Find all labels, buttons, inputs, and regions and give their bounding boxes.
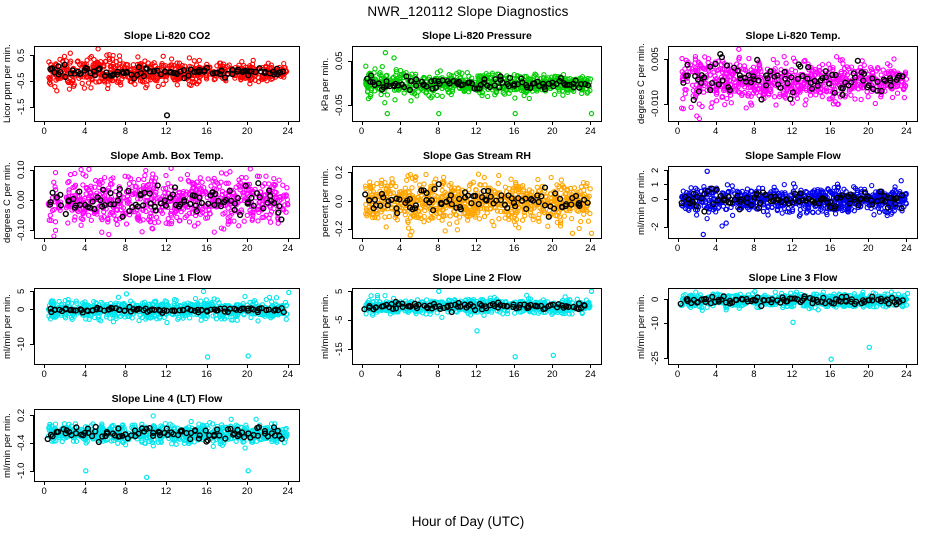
y-axis-line-slope-line-2-flow [351,291,352,349]
x-tick-label-slope-gas-stream-rh: 20 [540,243,564,254]
data-points-slope-line-3-flow [669,289,917,364]
x-tick-label-slope-line-3-flow: 16 [818,369,842,380]
plot-area-slope-li820-temp [668,46,918,122]
x-axis-line-slope-li820-temp [678,121,907,122]
y-axis-label-slope-li820-temp: degrees C per min. [636,44,647,124]
x-tick-label-slope-li820-co2: 0 [32,126,56,137]
y-axis-label-slope-amb-box-temp: degrees C per min. [2,164,13,241]
x-tick-slope-line-3-flow [906,364,907,368]
y-tick-label-slope-li820-pressure: -0.05 [334,89,346,121]
y-axis-line-slope-line-1-flow [33,291,34,343]
x-tick-slope-gas-stream-rh [590,238,591,242]
x-tick-label-slope-amb-box-temp: 12 [154,243,178,254]
x-axis-line-slope-li820-co2 [44,121,288,122]
plot-area-slope-gas-stream-rh [352,166,602,239]
panel-title-slope-li820-pressure: Slope Li-820 Pressure [352,30,602,42]
x-tick-label-slope-line-4-lt-flow: 12 [154,486,178,497]
y-tick-label-slope-line-2-flow: -15 [334,333,346,365]
y-tick-label-slope-line-2-flow: -5 [334,304,346,336]
x-tick-label-slope-li820-temp: 0 [666,126,690,137]
y-tick-label-slope-line-2-flow: 5 [334,275,346,307]
data-points-slope-amb-box-temp [35,167,299,238]
panel-title-slope-sample-flow: Slope Sample Flow [668,150,918,162]
x-tick-label-slope-sample-flow: 12 [780,243,804,254]
y-tick-label-slope-line-3-flow: -10 [650,307,662,339]
plot-area-slope-line-3-flow [668,288,918,365]
y-axis-label-slope-line-3-flow: ml/min per min. [636,286,647,367]
y-tick-slope-line-1-flow [30,344,34,345]
y-axis-label-slope-line-1-flow: ml/min per min. [2,286,13,367]
data-points-slope-li820-temp [669,47,917,121]
x-tick-label-slope-line-3-flow: 20 [856,369,880,380]
x-tick-label-slope-sample-flow: 24 [894,243,918,254]
y-axis-line-slope-li820-co2 [33,55,34,107]
x-tick-label-slope-line-1-flow: 12 [154,369,178,380]
x-tick-label-slope-li820-temp: 12 [780,126,804,137]
panel-title-slope-line-1-flow: Slope Line 1 Flow [34,272,300,284]
x-tick-label-slope-line-1-flow: 16 [195,369,219,380]
panel-title-slope-line-4-lt-flow: Slope Line 4 (LT) Flow [34,393,300,405]
y-axis-line-slope-li820-pressure [351,61,352,105]
data-points-slope-sample-flow [669,167,917,238]
global-x-axis-label: Hour of Day (UTC) [0,514,936,529]
plot-area-slope-line-1-flow [34,288,300,365]
y-tick-label-slope-amb-box-temp: -0.10 [16,214,28,246]
panel-title-slope-gas-stream-rh: Slope Gas Stream RH [352,150,602,162]
x-tick-label-slope-amb-box-temp: 16 [195,243,219,254]
x-tick-slope-amb-box-temp [288,238,289,242]
x-axis-line-slope-line-4-lt-flow [44,481,288,482]
x-tick-label-slope-line-4-lt-flow: 0 [32,486,56,497]
panel-title-slope-li820-temp: Slope Li-820 Temp. [668,30,918,42]
y-tick-label-slope-line-3-flow: -25 [650,342,662,374]
data-points-slope-li820-co2 [35,47,299,121]
y-axis-line-slope-amb-box-temp [33,170,34,229]
x-tick-label-slope-li820-temp: 20 [856,126,880,137]
y-tick-label-slope-li820-pressure: 0.05 [334,45,346,77]
x-tick-label-slope-li820-pressure: 0 [350,126,374,137]
x-tick-label-slope-li820-co2: 12 [154,126,178,137]
x-tick-label-slope-line-1-flow: 24 [276,369,300,380]
data-points-slope-gas-stream-rh [353,167,601,238]
x-axis-line-slope-line-1-flow [44,364,288,365]
x-tick-label-slope-li820-temp: 8 [742,126,766,137]
x-tick-label-slope-gas-stream-rh: 0 [350,243,374,254]
x-tick-label-slope-amb-box-temp: 0 [32,243,56,254]
x-tick-label-slope-li820-temp: 24 [894,126,918,137]
x-tick-label-slope-line-2-flow: 4 [388,369,412,380]
x-tick-label-slope-line-1-flow: 4 [73,369,97,380]
x-tick-label-slope-amb-box-temp: 24 [276,243,300,254]
x-tick-slope-li820-co2 [288,121,289,125]
x-axis-line-slope-sample-flow [678,238,907,239]
x-tick-label-slope-li820-temp: 4 [704,126,728,137]
x-tick-label-slope-gas-stream-rh: 8 [426,243,450,254]
x-tick-label-slope-line-4-lt-flow: 20 [235,486,259,497]
y-axis-line-slope-sample-flow [667,170,668,227]
y-axis-line-slope-li820-temp [667,59,668,103]
x-tick-label-slope-li820-pressure: 20 [540,126,564,137]
x-tick-slope-sample-flow [906,238,907,242]
y-tick-slope-li820-pressure [348,105,352,106]
panel-title-slope-line-2-flow: Slope Line 2 Flow [352,272,602,284]
plot-area-slope-line-2-flow [352,288,602,365]
x-tick-label-slope-amb-box-temp: 8 [113,243,137,254]
y-tick-label-slope-amb-box-temp: 0.10 [16,154,28,186]
y-tick-slope-line-4-lt-flow [30,471,34,472]
x-tick-label-slope-sample-flow: 4 [704,243,728,254]
y-axis-line-slope-line-3-flow [667,299,668,359]
data-points-slope-li820-pressure [353,47,601,121]
data-points-slope-line-1-flow [35,289,299,364]
x-tick-label-slope-li820-pressure: 24 [578,126,602,137]
x-tick-label-slope-line-3-flow: 24 [894,369,918,380]
x-tick-label-slope-line-1-flow: 0 [32,369,56,380]
y-tick-label-slope-amb-box-temp: 0.00 [16,184,28,216]
x-tick-label-slope-li820-pressure: 16 [502,126,526,137]
x-tick-label-slope-line-2-flow: 24 [578,369,602,380]
x-tick-label-slope-line-1-flow: 20 [235,369,259,380]
y-tick-label-slope-line-1-flow: -10 [16,328,28,360]
y-tick-slope-amb-box-temp [30,230,34,231]
y-tick-label-slope-line-1-flow: 0 [16,293,28,325]
y-tick-slope-line-3-flow [664,358,668,359]
y-tick-label-slope-line-4-lt-flow: -1.0 [16,455,28,487]
x-tick-label-slope-li820-co2: 24 [276,126,300,137]
x-tick-label-slope-gas-stream-rh: 4 [388,243,412,254]
x-tick-label-slope-li820-pressure: 4 [388,126,412,137]
x-tick-label-slope-line-4-lt-flow: 16 [195,486,219,497]
y-axis-label-slope-li820-co2: Licor ppm per min. [2,44,13,124]
y-tick-label-slope-gas-stream-rh: -0.2 [334,213,346,245]
y-tick-label-slope-sample-flow: 0 [650,183,662,215]
y-tick-slope-line-2-flow [348,349,352,350]
x-tick-label-slope-amb-box-temp: 4 [73,243,97,254]
x-tick-slope-line-4-lt-flow [288,481,289,485]
x-tick-label-slope-line-1-flow: 8 [113,369,137,380]
x-tick-label-slope-amb-box-temp: 20 [235,243,259,254]
x-tick-slope-line-2-flow [590,364,591,368]
x-tick-label-slope-line-3-flow: 12 [780,369,804,380]
y-tick-label-slope-gas-stream-rh: 0.2 [334,156,346,188]
x-tick-label-slope-line-3-flow: 0 [666,369,690,380]
y-axis-label-slope-line-4-lt-flow: ml/min per min. [2,407,13,484]
x-tick-label-slope-sample-flow: 16 [818,243,842,254]
y-tick-label-slope-sample-flow: -2 [650,211,662,243]
panel-title-slope-line-3-flow: Slope Line 3 Flow [668,272,918,284]
y-tick-slope-sample-flow [664,227,668,228]
y-axis-label-slope-line-2-flow: ml/min per min. [320,286,331,367]
figure-root: NWR_120112 Slope Diagnostics Slope Li-82… [0,0,936,540]
x-tick-label-slope-line-4-lt-flow: 24 [276,486,300,497]
x-tick-label-slope-line-2-flow: 0 [350,369,374,380]
data-points-slope-line-4-lt-flow [35,410,299,481]
x-tick-label-slope-li820-co2: 20 [235,126,259,137]
panel-title-slope-amb-box-temp: Slope Amb. Box Temp. [34,150,300,162]
panel-title-slope-li820-co2: Slope Li-820 CO2 [34,30,300,42]
x-tick-slope-line-1-flow [288,364,289,368]
x-tick-slope-li820-pressure [590,121,591,125]
x-tick-label-slope-line-2-flow: 12 [464,369,488,380]
y-axis-label-slope-li820-pressure: kPa per min. [320,44,331,124]
x-tick-label-slope-line-2-flow: 20 [540,369,564,380]
y-tick-label-slope-li820-temp: 0.005 [650,43,662,75]
y-tick-label-slope-li820-co2: -1.5 [16,91,28,123]
x-axis-line-slope-li820-pressure [362,121,591,122]
y-tick-slope-li820-temp [664,104,668,105]
y-tick-slope-li820-co2 [30,107,34,108]
x-axis-line-slope-gas-stream-rh [362,238,591,239]
x-tick-label-slope-sample-flow: 0 [666,243,690,254]
x-tick-label-slope-li820-pressure: 12 [464,126,488,137]
x-tick-label-slope-line-3-flow: 8 [742,369,766,380]
x-axis-line-slope-line-2-flow [362,364,591,365]
x-tick-label-slope-line-4-lt-flow: 4 [73,486,97,497]
y-tick-slope-gas-stream-rh [348,229,352,230]
plot-area-slope-line-4-lt-flow [34,409,300,482]
x-tick-label-slope-li820-pressure: 8 [426,126,450,137]
x-tick-label-slope-li820-co2: 4 [73,126,97,137]
x-tick-label-slope-li820-co2: 8 [113,126,137,137]
x-axis-line-slope-line-3-flow [678,364,907,365]
plot-area-slope-li820-pressure [352,46,602,122]
x-tick-label-slope-sample-flow: 20 [856,243,880,254]
y-axis-line-slope-gas-stream-rh [351,172,352,229]
x-tick-label-slope-gas-stream-rh: 24 [578,243,602,254]
x-tick-slope-li820-temp [906,121,907,125]
data-points-slope-line-2-flow [353,289,601,364]
x-tick-label-slope-line-2-flow: 8 [426,369,450,380]
x-tick-label-slope-li820-co2: 16 [195,126,219,137]
x-tick-label-slope-line-3-flow: 4 [704,369,728,380]
x-tick-label-slope-gas-stream-rh: 12 [464,243,488,254]
y-axis-label-slope-sample-flow: ml/min per min. [636,164,647,241]
x-axis-line-slope-amb-box-temp [44,238,288,239]
plot-area-slope-amb-box-temp [34,166,300,239]
figure-title: NWR_120112 Slope Diagnostics [0,4,936,19]
x-tick-label-slope-sample-flow: 8 [742,243,766,254]
y-axis-label-slope-gas-stream-rh: percent per min. [320,164,331,241]
plot-area-slope-li820-co2 [34,46,300,122]
y-tick-label-slope-gas-stream-rh: 0.0 [334,185,346,217]
x-tick-label-slope-li820-temp: 16 [818,126,842,137]
x-tick-label-slope-gas-stream-rh: 16 [502,243,526,254]
y-tick-label-slope-li820-temp: -0.010 [650,88,662,120]
x-tick-label-slope-line-2-flow: 16 [502,369,526,380]
y-axis-line-slope-line-4-lt-flow [33,415,34,471]
plot-area-slope-sample-flow [668,166,918,239]
x-tick-label-slope-line-4-lt-flow: 8 [113,486,137,497]
